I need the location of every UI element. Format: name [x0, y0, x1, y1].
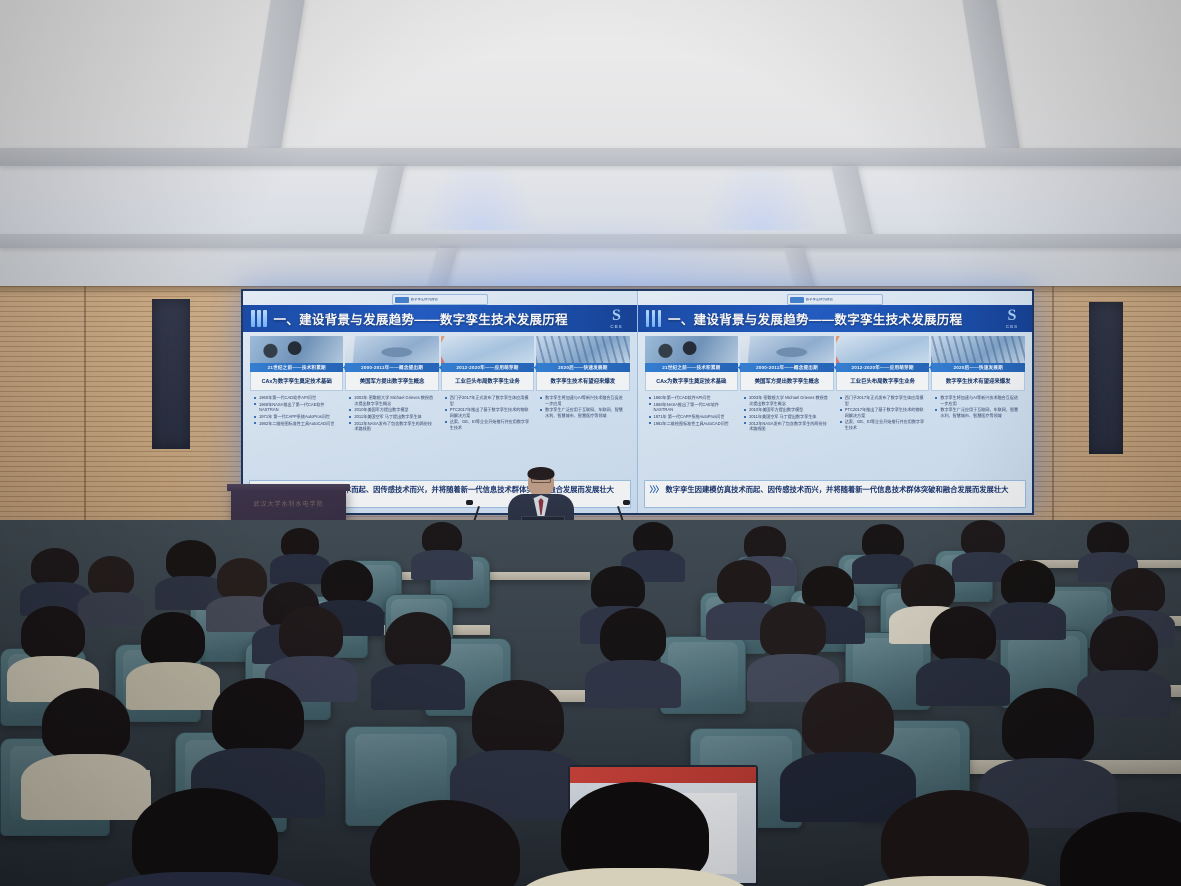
person-shoulders	[411, 550, 473, 580]
audience-member	[385, 612, 451, 696]
cbs-logo-icon: S CBS	[997, 306, 1027, 332]
person-hair	[42, 688, 130, 760]
wall-dark-panel-left	[152, 299, 190, 449]
timeline-arrow-icon: ➜	[531, 364, 539, 372]
slide-panel-left[interactable]: 数字孪生研究报告 一、建设背景与发展趋势——数字孪生技术发展历程 S CBS 2…	[243, 291, 638, 513]
timeline-arrow-icon: ➜	[926, 364, 934, 372]
list-item: 2012年NASA发布了包含数字孪生的两份技术路线图	[349, 421, 435, 432]
cbs-swirl-mark: S	[612, 308, 621, 324]
bullets-row: 1960年第一代CAD软件API问世 1968年NASA推出了第一代CAE软件N…	[644, 394, 1027, 456]
bullet-column-2: 2003年 密歇根大学 Michael Grieves 教授首次提出数字孪生概念…	[346, 394, 437, 456]
audience-member	[20, 606, 86, 688]
audience-member	[420, 522, 464, 574]
timeline-headline: 工业巨头布局数字孪生业务	[836, 372, 930, 391]
audience-member	[30, 548, 80, 610]
timeline-headline: 数字孪生技术有望迎来爆发	[931, 372, 1025, 391]
person-hair	[1087, 522, 1129, 556]
mini-bar-text: 数字孪生研究报告	[411, 298, 438, 301]
timeline-headline: 美国军方提出数字孪生概念	[740, 372, 834, 391]
list-item: 2003年 密歇根大学 Michael Grieves 教授首次提出数字孪生概念	[744, 395, 831, 406]
slide-bottom-banner: 〉〉〉 数字孪生因建模仿真技术而起、因传感技术而兴，并将随着新一代信息技术群体突…	[644, 480, 1027, 508]
cbs-caption: CBS	[610, 325, 622, 330]
mini-bar-chip	[395, 297, 409, 303]
person-shoulders	[78, 592, 144, 626]
ceiling	[0, 0, 1181, 288]
list-item: PTC2017年推出了基于数字孪生技术的物联网解决方案	[840, 407, 927, 418]
chevron-right-icon: 〉〉〉	[650, 485, 663, 495]
timeline-headline: CAx为数字孪生奠定技术基础	[250, 372, 343, 391]
timeline-row: 21世纪之前——技术积累期 CAx为数字孪生奠定技术基础 ➜ 2000-2011…	[249, 336, 631, 391]
list-item: 2010年美国军方提出数字模型	[744, 407, 831, 413]
timeline-image-cax	[645, 336, 739, 363]
list-item: 1968年NASA推出了第一代CAE软件NASTRAN	[254, 402, 340, 413]
list-item: 1971年 第一代CAPP系统AutoPros问世	[254, 414, 340, 420]
person-shoulders	[916, 658, 1010, 706]
person-hair	[212, 678, 304, 754]
cbs-caption: CBS	[1006, 325, 1018, 330]
ceiling-beam-vertical-left	[245, 0, 304, 160]
timeline-stage-4[interactable]: 2020后——快速发展期 数字孪生技术有望迎来爆发	[931, 336, 1025, 391]
timeline-period-label: 21世纪之前——技术积累期	[250, 363, 343, 372]
timeline-headline: 数字孪生技术有望迎来爆发	[536, 372, 629, 391]
mini-bar-text: 数字孪生研究报告	[806, 298, 833, 301]
ceiling-downlight-left	[420, 160, 540, 230]
timeline-stage-3[interactable]: 2012-2020年——应用萌芽期 工业巨头布局数字孪生业务 ➜	[836, 336, 930, 391]
person-hair	[802, 682, 894, 758]
title-bars-icon	[646, 310, 662, 327]
person-hair	[744, 526, 786, 560]
audience-member-foreground	[1060, 812, 1181, 886]
timeline-headline: CAx为数字孪生奠定技术基础	[645, 372, 739, 391]
audience-member	[760, 602, 826, 686]
person-hair	[591, 566, 645, 610]
timeline-stage-1[interactable]: 21世纪之前——技术积累期 CAx为数字孪生奠定技术基础 ➜	[645, 336, 739, 391]
timeline-period-label: 2012-2020年——应用萌芽期	[441, 363, 534, 372]
person-hair	[321, 560, 373, 604]
audience-member	[278, 606, 344, 688]
person-hair	[217, 558, 267, 600]
timeline-image-military	[345, 336, 438, 363]
slide-title-bar: 一、建设背景与发展趋势——数字孪生技术发展历程 S CBS	[638, 305, 1033, 332]
person-hair	[930, 606, 996, 662]
audience-member	[140, 612, 206, 694]
ceiling-beam-vertical-right	[962, 0, 1021, 160]
list-item: 数字孪生广泛应用于互联网、车联网、智慧水利、智慧城市、智慧医疗等领域	[540, 407, 626, 418]
audience-member	[278, 528, 322, 580]
person-hair	[1001, 560, 1055, 606]
list-item: 1960年第一代CAD软件API问世	[649, 395, 736, 401]
audience-member-foreground	[560, 782, 710, 886]
person-hair	[166, 540, 216, 580]
timeline-arrow-icon: ➜	[340, 364, 348, 372]
mini-bar-chip	[790, 297, 804, 303]
slide-mini-header-bar: 数字孪生研究报告	[787, 294, 883, 305]
person-hair	[370, 800, 520, 886]
timeline-arrow-icon: ➜	[436, 364, 444, 372]
audience-member	[1000, 560, 1056, 628]
audience-member-foreground	[880, 790, 1030, 886]
timeline-period-label: 2020后——快速发展期	[536, 363, 629, 372]
person-hair	[1090, 616, 1158, 674]
podium-institution-text: 武汉大学水利水电学院	[235, 499, 342, 508]
slide-title-text: 一、建设背景与发展趋势——数字孪生技术发展历程	[668, 309, 962, 328]
microphone-head-left	[466, 500, 473, 505]
list-item: 1960年第一代CAD软件API问世	[254, 395, 340, 401]
list-item: 1982年二维绘图标准性工具AutoCAD问世	[254, 421, 340, 427]
audience-member	[470, 680, 566, 806]
list-item: 西门子2017年正式发布了数字孪生体应用模型	[840, 395, 927, 406]
person-hair	[31, 548, 79, 586]
podium-top-surface	[227, 484, 350, 491]
timeline-image-military	[740, 336, 834, 363]
slide-panel-right[interactable]: 数字孪生研究报告 一、建设背景与发展趋势——数字孪生技术发展历程 S CBS 2…	[638, 291, 1033, 513]
timeline-stage-4[interactable]: 2020后——快速发展期 数字孪生技术有望迎来爆发	[536, 336, 629, 391]
timeline-image-cax	[250, 336, 343, 363]
person-hair	[88, 556, 134, 596]
timeline-image-aircraft	[836, 336, 930, 363]
person-shoulders	[126, 662, 220, 710]
timeline-stage-2[interactable]: 2000-2011年——概念提出期 美国军方提出数字孪生概念 ➜	[345, 336, 438, 391]
timeline-headline: 工业巨头布局数字孪生业务	[441, 372, 534, 391]
bullet-column-2: 2003年 密歇根大学 Michael Grieves 教授首次提出数字孪生概念…	[741, 394, 833, 456]
timeline-row: 21世纪之前——技术积累期 CAx为数字孪生奠定技术基础 ➜ 2000-2011…	[644, 336, 1027, 391]
laptop-app-titlebar	[570, 767, 756, 783]
person-hair	[1060, 812, 1181, 886]
person-hair	[279, 606, 343, 660]
timeline-period-label: 2012-2020年——应用萌芽期	[836, 363, 930, 372]
projection-screen[interactable]: 数字孪生研究报告 一、建设背景与发展趋势——数字孪生技术发展历程 S CBS 2…	[241, 289, 1034, 515]
list-item: 西门子2017年正式发布了数字孪生体应用模型	[445, 395, 531, 406]
audience-member	[215, 558, 269, 624]
timeline-image-aircraft	[441, 336, 534, 363]
slide-title-text: 一、建设背景与发展趋势——数字孪生技术发展历程	[274, 309, 568, 328]
list-item: 数字孪生广泛应用于互联网、车联网、智慧水利、智慧城市、智慧医疗等领域	[935, 407, 1022, 418]
microphone-head-right	[623, 500, 630, 505]
person-hair	[717, 560, 771, 606]
timeline-period-label: 2000-2011年——概念提出期	[345, 363, 438, 372]
person-hair	[472, 680, 564, 756]
timeline-period-label: 21世纪之前——技术积累期	[645, 363, 739, 372]
bullet-column-4: 数字孪生将加速与AI等新兴技术融合互促进一步应用 数字孪生广泛应用于互联网、车联…	[537, 394, 628, 456]
timeline-image-city	[536, 336, 629, 363]
list-item: 1968年NASA推出了第一代CAE软件NASTRAN	[649, 402, 736, 413]
bullet-column-3: 西门子2017年正式发布了数字孪生体应用模型 PTC2017年推出了基于数字孪生…	[837, 394, 929, 456]
bullet-column-3: 西门子2017年正式发布了数字孪生体应用模型 PTC2017年推出了基于数字孪生…	[442, 394, 533, 456]
bullet-column-1: 1960年第一代CAD软件API问世 1968年NASA推出了第一代CAE软件N…	[251, 394, 342, 456]
cbs-logo-icon: S CBS	[602, 306, 632, 332]
person-hair	[21, 606, 85, 660]
slide-title-bar: 一、建设背景与发展趋势——数字孪生技术发展历程 S CBS	[243, 305, 637, 332]
timeline-period-label: 2020后——快速发展期	[931, 363, 1025, 372]
banner-text: 数字孪生因建模仿真技术而起、因传感技术而兴，并将随着新一代信息技术群体突破和融合…	[666, 485, 1009, 496]
audience-member	[40, 688, 132, 808]
person-shoulders	[990, 602, 1066, 640]
person-shoulders	[371, 664, 465, 710]
list-item: 1982年二维绘图标准性工具AutoCAD问世	[649, 421, 736, 427]
person-hair	[760, 602, 826, 658]
timeline-arrow-icon: ➜	[831, 364, 839, 372]
person-shoulders	[585, 660, 681, 708]
ceiling-beam-horizontal-1	[0, 148, 1181, 166]
person-hair	[961, 520, 1005, 556]
person-hair	[600, 608, 666, 664]
list-item: PTC2017年推出了基于数字孪生技术的物联网解决方案	[445, 407, 531, 418]
timeline-stage-3[interactable]: 2012-2020年——应用萌芽期 工业巨头布局数字孪生业务 ➜	[441, 336, 534, 391]
person-hair	[881, 790, 1029, 886]
audience-member	[1090, 616, 1158, 702]
list-item: 数字孪生将加速与AI等新兴技术融合互促进一步应用	[935, 395, 1022, 406]
timeline-stage-1[interactable]: 21世纪之前——技术积累期 CAx为数字孪生奠定技术基础 ➜	[250, 336, 343, 391]
audience-member	[600, 608, 666, 692]
audience-member	[165, 540, 217, 604]
bullet-column-4: 数字孪生将加速与AI等新兴技术融合互促进一步应用 数字孪生广泛应用于互联网、车联…	[932, 394, 1024, 456]
cbs-swirl-mark: S	[1008, 308, 1017, 324]
list-item: 达索、GE、EI等企业开始推行并应用数字孪生技术	[840, 419, 927, 430]
person-hair	[385, 612, 451, 668]
timeline-headline: 美国军方提出数字孪生概念	[345, 372, 438, 391]
bullets-row: 1960年第一代CAD软件API问世 1968年NASA推出了第一代CAE软件N…	[249, 394, 631, 456]
list-item: 2011年美国空军 马丁提出数字孪生体	[744, 414, 831, 420]
audience-member-foreground	[130, 788, 280, 886]
lecture-hall-photo: 数字孪生研究报告 一、建设背景与发展趋势——数字孪生技术发展历程 S CBS 2…	[0, 0, 1181, 886]
list-item: 2012年NASA发布了包含数字孪生的两份技术路线图	[744, 421, 831, 432]
slide-mini-header-bar: 数字孪生研究报告	[392, 294, 488, 305]
list-item: 1971年 第一代CAPP系统AutoPros问世	[649, 414, 736, 420]
title-bars-icon	[251, 310, 267, 327]
person-hair	[141, 612, 205, 666]
bullet-column-1: 1960年第一代CAD软件API问世 1968年NASA推出了第一代CAE软件N…	[646, 394, 738, 456]
timeline-arrow-icon: ➜	[735, 364, 743, 372]
person-hair	[1111, 568, 1165, 614]
ceiling-downlight-right	[700, 160, 820, 230]
wall-dark-panel-right	[1089, 302, 1123, 454]
audience-area	[0, 520, 1181, 886]
speaker-glasses	[531, 478, 551, 483]
list-item: 2003年 密歇根大学 Michael Grieves 教授首次提出数字孪生概念	[349, 395, 435, 406]
timeline-stage-2[interactable]: 2000-2011年——概念提出期 美国军方提出数字孪生概念 ➜	[740, 336, 834, 391]
person-shoulders	[842, 876, 1068, 886]
list-item: 2010年美国军方提出数字模型	[349, 407, 435, 413]
timeline-image-city	[931, 336, 1025, 363]
audience-member	[930, 606, 996, 690]
person-hair	[862, 524, 904, 558]
list-item: 达索、GE、EI等企业开始推行并应用数字孪生技术	[445, 419, 531, 430]
audience-member-foreground	[370, 800, 520, 886]
audience-member	[86, 556, 136, 618]
person-hair	[1002, 688, 1094, 764]
list-item: 2011年美国空军 马丁提出数字孪生体	[349, 414, 435, 420]
person-hair	[901, 564, 955, 610]
timeline-period-label: 2000-2011年——概念提出期	[740, 363, 834, 372]
list-item: 数字孪生将加速与AI等新兴技术融合互促进一步应用	[540, 395, 626, 406]
person-shoulders	[93, 872, 317, 886]
audience-member	[210, 678, 306, 804]
